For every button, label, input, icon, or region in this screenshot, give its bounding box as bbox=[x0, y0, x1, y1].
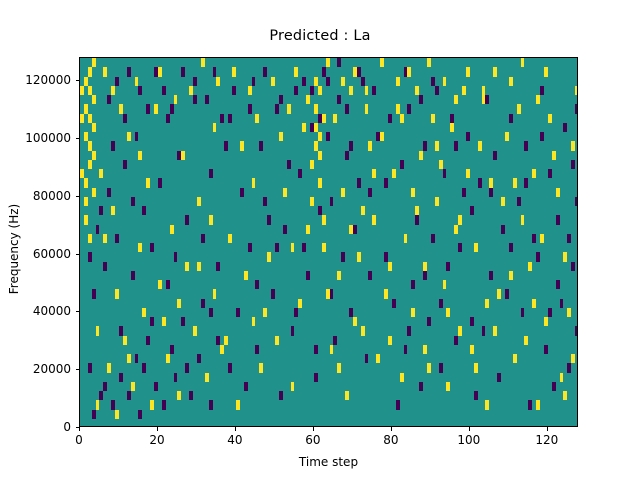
x-tick-mark bbox=[79, 427, 80, 431]
y-tick-mark bbox=[76, 369, 80, 370]
y-tick-label: 100000 bbox=[0, 131, 71, 145]
y-tick-label: 20000 bbox=[0, 362, 71, 376]
x-tick-mark bbox=[469, 427, 470, 431]
x-tick-mark bbox=[313, 427, 314, 431]
y-tick-label: 120000 bbox=[0, 73, 71, 87]
matplotlib-figure: Predicted : La 0200004000060000800001000… bbox=[0, 0, 640, 480]
x-tick-mark bbox=[547, 427, 548, 431]
y-axis-label: Frequency (Hz) bbox=[7, 149, 21, 349]
y-tick-mark bbox=[76, 80, 80, 81]
x-tick-label: 120 bbox=[535, 433, 558, 447]
y-tick-mark bbox=[76, 311, 80, 312]
page-title: Predicted : La bbox=[0, 28, 640, 44]
x-tick-label: 60 bbox=[305, 433, 320, 447]
y-tick-mark bbox=[76, 254, 80, 255]
x-tick-label: 100 bbox=[457, 433, 480, 447]
y-tick-label: 0 bbox=[0, 420, 71, 434]
x-tick-label: 80 bbox=[383, 433, 398, 447]
y-tick-mark bbox=[76, 138, 80, 139]
heatmap-image bbox=[80, 58, 578, 427]
heatmap-axes bbox=[79, 57, 578, 427]
x-tick-label: 20 bbox=[149, 433, 164, 447]
y-tick-mark bbox=[76, 196, 80, 197]
x-tick-label: 40 bbox=[227, 433, 242, 447]
x-axis-label: Time step bbox=[79, 455, 578, 469]
x-tick-mark bbox=[235, 427, 236, 431]
x-tick-mark bbox=[157, 427, 158, 431]
x-tick-label: 0 bbox=[75, 433, 83, 447]
x-tick-mark bbox=[391, 427, 392, 431]
